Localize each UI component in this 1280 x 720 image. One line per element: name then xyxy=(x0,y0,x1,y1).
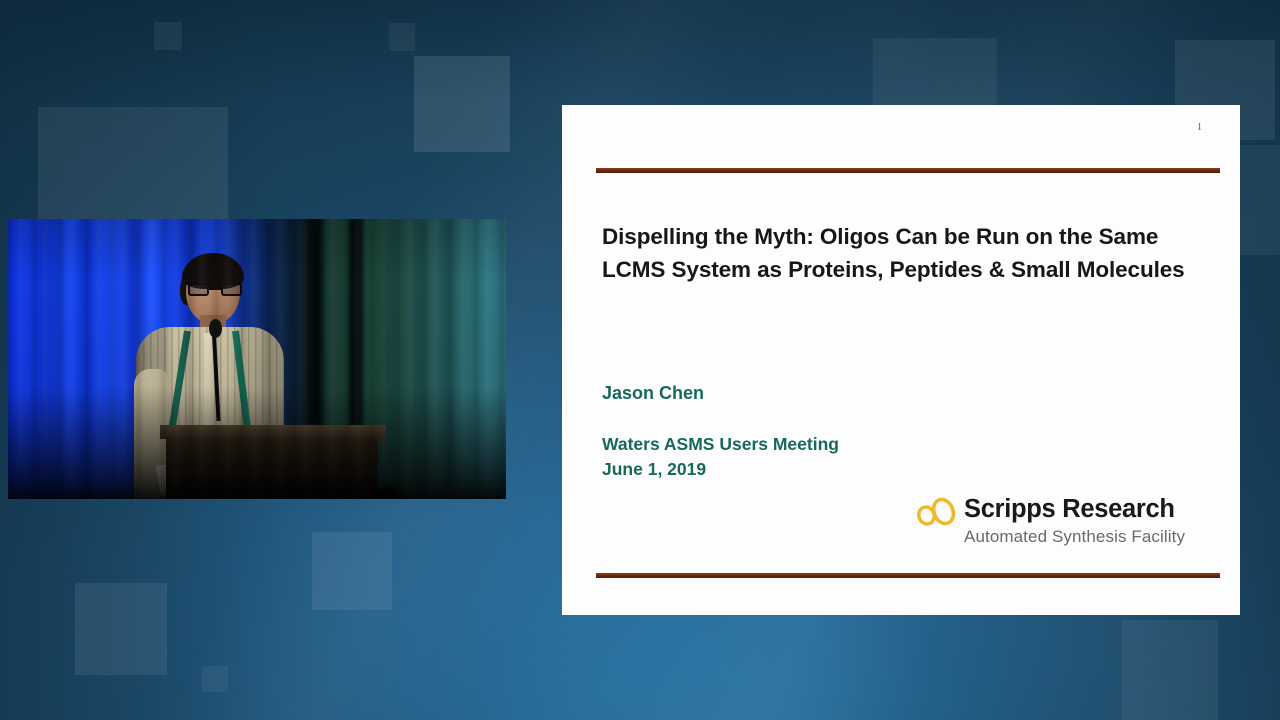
speaker-video[interactable] xyxy=(8,219,506,499)
slide-author: Jason Chen xyxy=(602,383,704,404)
slide-event-date: June 1, 2019 xyxy=(602,457,839,482)
logo-wordmark: Scripps Research xyxy=(964,495,1175,524)
scripps-research-logo: Scripps Research Automated Synthesis Fac… xyxy=(914,495,1214,551)
scripps-infinity-icon xyxy=(914,497,958,529)
video-vignette xyxy=(8,219,506,499)
slide-number: 1 xyxy=(1197,122,1202,133)
slide-event-info: Waters ASMS Users Meeting June 1, 2019 xyxy=(602,432,839,482)
slide-event-name: Waters ASMS Users Meeting xyxy=(602,434,839,454)
slide-rule-bottom xyxy=(596,573,1220,578)
presentation-stage: 1 Dispelling the Myth: Oligos Can be Run… xyxy=(0,0,1280,720)
slide-view[interactable]: 1 Dispelling the Myth: Oligos Can be Run… xyxy=(562,105,1240,615)
slide-rule-top xyxy=(596,168,1220,173)
slide-title: Dispelling the Myth: Oligos Can be Run o… xyxy=(602,221,1196,287)
logo-tagline: Automated Synthesis Facility xyxy=(964,527,1185,547)
